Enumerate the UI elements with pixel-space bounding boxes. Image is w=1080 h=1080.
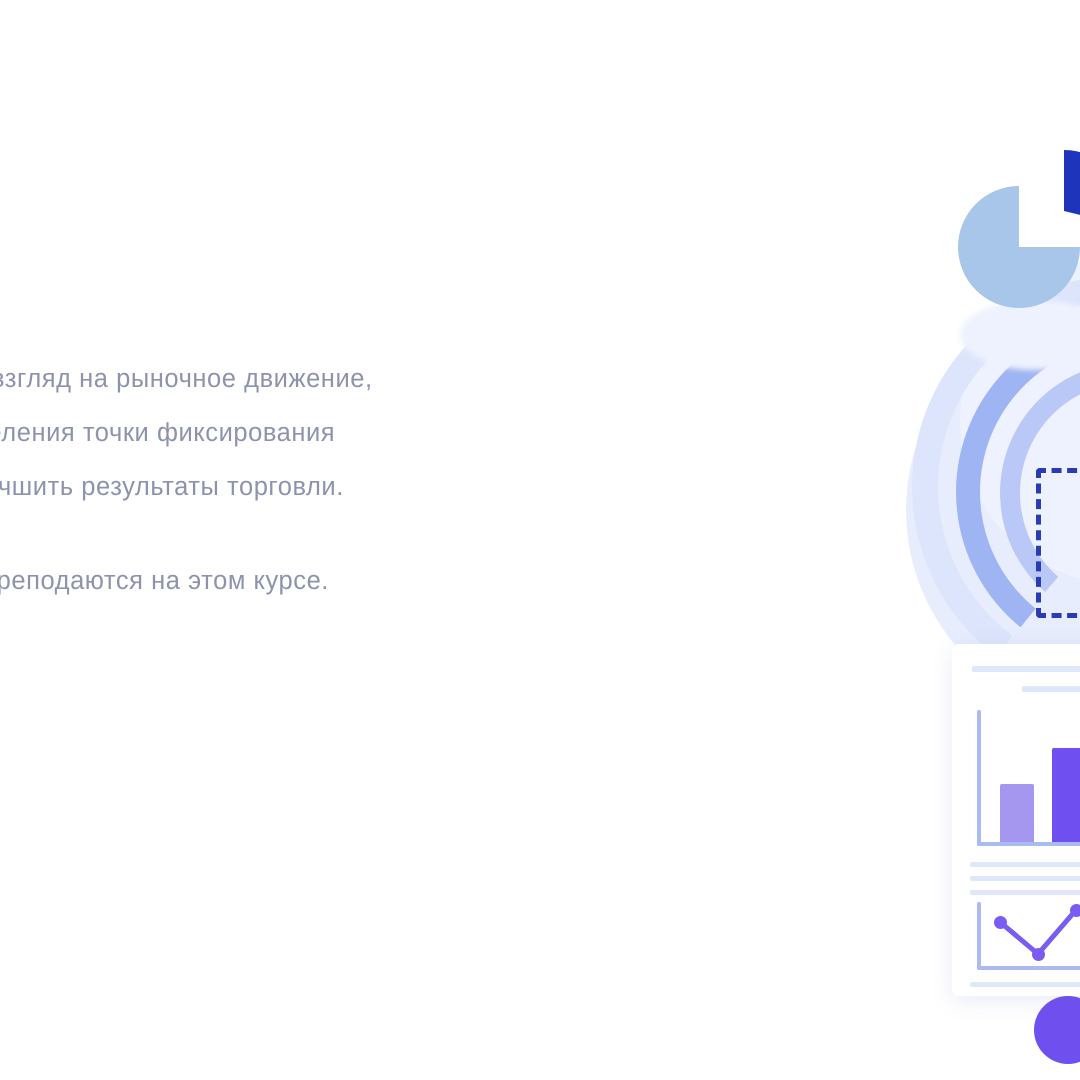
arc-ring-outer-icon [885, 248, 1080, 727]
dashboard-card [952, 644, 1080, 996]
copy-line-3: воём прогнозе и улучшить результаты торг… [0, 460, 758, 514]
pie-chart-exploded-slice-icon [1003, 150, 1080, 272]
line-chart-y-axis [977, 902, 981, 970]
dashed-square-icon [1036, 468, 1080, 618]
copy-line-2: шить навыки определения точки фиксирован… [0, 406, 758, 460]
bar-chart-bar [1000, 784, 1034, 842]
arc-ring-inner-icon [991, 353, 1080, 633]
skeleton-text-line [970, 876, 1080, 881]
purple-circle-accent-icon [1034, 996, 1080, 1064]
slide-canvas: ть альтернативный взгляд на рыночное дви… [0, 0, 1080, 1080]
copy-line-4: ского анализа - не преподаются на этом к… [0, 554, 758, 608]
bar-chart-x-axis [977, 842, 1080, 846]
pie-chart-shadow [960, 300, 1080, 370]
background-blob-inner [960, 255, 1080, 585]
line-chart-polyline-icon [952, 644, 1080, 996]
bar-chart-y-axis [977, 710, 981, 846]
line-chart-point [1070, 904, 1080, 917]
skeleton-text-line [970, 862, 1080, 867]
bar-chart-bar [1052, 748, 1080, 842]
course-description-text: ть альтернативный взгляд на рыночное дви… [0, 352, 758, 608]
skeleton-text-line [970, 890, 1080, 895]
copy-line-1: ть альтернативный взгляд на рыночное дви… [0, 352, 758, 406]
skeleton-text-line [970, 982, 1080, 987]
line-chart-point [1032, 948, 1045, 961]
line-chart-point [994, 916, 1007, 929]
line-chart-x-axis [977, 966, 1080, 970]
copy-paragraph-gap [0, 514, 758, 554]
pie-chart-body-icon [958, 186, 1080, 308]
arc-ring-middle-icon [939, 301, 1080, 683]
background-blob-outer [906, 300, 1080, 720]
skeleton-text-line [1022, 686, 1080, 692]
skeleton-text-line [972, 666, 1080, 672]
